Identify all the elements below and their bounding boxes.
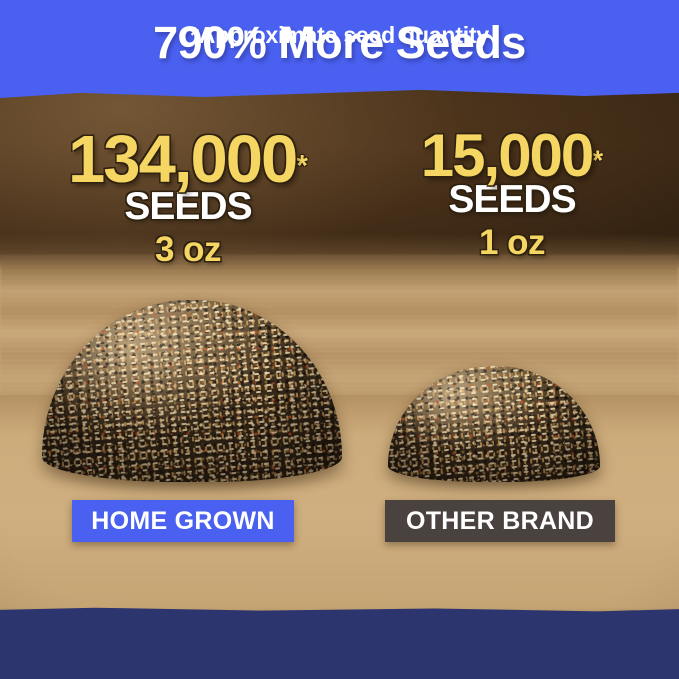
right-seed-pile-image <box>388 366 600 482</box>
right-asterisk-mark: * <box>592 145 603 176</box>
left-stat-block: 134,000* SEEDS 3 oz <box>18 126 358 267</box>
seed-pile-shading <box>388 366 600 482</box>
footnote-text: *Approximate seed quantity <box>0 22 679 49</box>
badge-other-brand-label: OTHER BRAND <box>406 507 594 536</box>
badge-home-grown-label: HOME GROWN <box>91 507 275 536</box>
right-weight-label: 1 oz <box>362 225 662 260</box>
left-seed-count: 134,000 <box>68 126 296 193</box>
left-asterisk-mark: * <box>296 150 308 183</box>
right-seed-count: 15,000 <box>421 126 593 186</box>
left-weight-label: 3 oz <box>18 232 358 267</box>
seed-pile-shading <box>42 300 342 482</box>
product-comparison-infographic: 790% More Seeds 134,000* SEEDS 3 oz 15,0… <box>0 0 679 679</box>
badge-other-brand: OTHER BRAND <box>385 500 615 542</box>
right-number-row: 15,000* <box>362 126 662 186</box>
bottom-banner <box>0 607 679 679</box>
badge-home-grown: HOME GROWN <box>72 500 294 542</box>
left-seed-pile-image <box>42 300 342 482</box>
right-stat-block: 15,000* SEEDS 1 oz <box>362 126 662 260</box>
left-number-row: 134,000* <box>18 126 358 193</box>
